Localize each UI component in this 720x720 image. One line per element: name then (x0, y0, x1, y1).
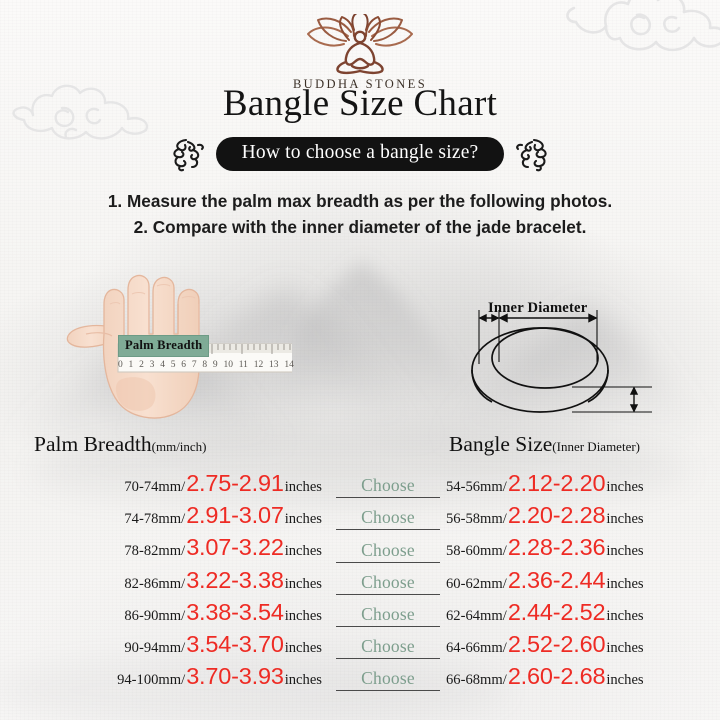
palm-row-6-mm: 94-100mm/ (117, 672, 185, 689)
flourish-ornament-right-icon (514, 136, 548, 172)
palm-row-3-unit: inches (285, 576, 322, 593)
table-row: 70-74mm/2.75-2.91inches (22, 470, 322, 502)
choose-row: Choose (330, 534, 446, 566)
choose-field-1[interactable]: Choose (336, 507, 440, 530)
bangle-row-6-unit: inches (606, 672, 643, 689)
palm-row-5-inches: 3.54-3.70 (185, 631, 285, 658)
instruction-line-1: 1. Measure the palm max breadth as per t… (0, 188, 720, 214)
left-header-sub: (mm/inch) (152, 439, 207, 454)
bangle-row-1-unit: inches (606, 511, 643, 528)
bangle-size-chart-page: BUDDHA STONES Bangle Size Chart How to c… (0, 0, 720, 720)
bangle-row-1-inches: 2.20-2.28 (507, 502, 607, 529)
palm-row-4-inches: 3.38-3.54 (185, 599, 285, 626)
palm-row-2-mm: 78-82mm/ (124, 543, 185, 560)
left-column-header: Palm Breadth(mm/inch) (34, 432, 207, 457)
table-row: 82-86mm/3.22-3.38inches (22, 567, 322, 599)
choose-column: ChooseChooseChooseChooseChooseChooseChoo… (330, 470, 446, 695)
banner-question: How to choose a bangle size? (216, 137, 505, 171)
ruler-tick-0: 0 (118, 360, 123, 370)
choose-label-2: Choose (361, 540, 415, 560)
right-column-header: Bangle Size(Inner Diameter) (449, 432, 640, 457)
choose-row: Choose (330, 663, 446, 695)
palm-row-3-inches: 3.22-3.38 (185, 567, 285, 594)
ruler-tick-11: 11 (239, 360, 248, 370)
bangle-row-5-inches: 2.52-2.60 (507, 631, 607, 658)
palm-row-5-mm: 90-94mm/ (124, 640, 185, 657)
choose-field-0[interactable]: Choose (336, 475, 440, 498)
bangle-row-5-mm: 64-66mm/ (446, 640, 507, 657)
bangle-row-1-mm: 56-58mm/ (446, 511, 507, 528)
right-header-sub: (Inner Diameter) (552, 439, 640, 454)
table-row: 54-56mm/2.12-2.20inches (446, 470, 708, 502)
page-title: Bangle Size Chart (0, 82, 720, 125)
ruler-tick-1: 1 (129, 360, 134, 370)
choose-label-5: Choose (361, 636, 415, 656)
palm-row-0-mm: 70-74mm/ (124, 479, 185, 496)
choose-field-3[interactable]: Choose (336, 572, 440, 595)
ruler-tick-7: 7 (192, 360, 197, 370)
palm-row-1-inches: 2.91-3.07 (185, 502, 285, 529)
choose-field-4[interactable]: Choose (336, 604, 440, 627)
ruler-tick-6: 6 (181, 360, 186, 370)
bangle-ring-diagram-icon (452, 292, 667, 420)
choose-row: Choose (330, 470, 446, 502)
ruler-tick-5: 5 (171, 360, 176, 370)
bangle-row-4-inches: 2.44-2.52 (507, 599, 607, 626)
choose-field-2[interactable]: Choose (336, 540, 440, 563)
palm-row-4-mm: 86-90mm/ (124, 608, 185, 625)
ruler-tick-4: 4 (160, 360, 165, 370)
choose-field-5[interactable]: Choose (336, 636, 440, 659)
bangle-row-2-inches: 2.28-2.36 (507, 534, 607, 561)
palm-row-0-unit: inches (285, 479, 322, 496)
palm-row-1-mm: 74-78mm/ (124, 511, 185, 528)
choose-field-6[interactable]: Choose (336, 668, 440, 691)
choose-label-3: Choose (361, 572, 415, 592)
right-header-main: Bangle Size (449, 432, 552, 456)
bangle-row-0-inches: 2.12-2.20 (507, 470, 607, 497)
instructions-block: 1. Measure the palm max breadth as per t… (0, 188, 720, 240)
choose-row: Choose (330, 631, 446, 663)
palm-breadth-label: Palm Breadth (118, 335, 209, 357)
banner-row: How to choose a bangle size? (0, 136, 720, 172)
palm-row-6-inches: 3.70-3.93 (185, 663, 285, 690)
ruler-tick-2: 2 (139, 360, 144, 370)
choose-label-0: Choose (361, 475, 415, 495)
palm-row-1-unit: inches (285, 511, 322, 528)
table-row: 94-100mm/3.70-3.93inches (22, 663, 322, 695)
left-header-main: Palm Breadth (34, 432, 152, 456)
ruler-tick-8: 8 (202, 360, 207, 370)
table-row: 58-60mm/2.28-2.36inches (446, 534, 708, 566)
table-row: 62-64mm/2.44-2.52inches (446, 599, 708, 631)
palm-row-2-inches: 3.07-3.22 (185, 534, 285, 561)
bangle-row-2-mm: 58-60mm/ (446, 543, 507, 560)
ruler-tick-labels: 01234567891011121314 (118, 360, 294, 370)
choose-row: Choose (330, 502, 446, 534)
ruler-tick-14: 14 (284, 360, 294, 370)
bangle-row-3-unit: inches (606, 576, 643, 593)
choose-label-4: Choose (361, 604, 415, 624)
ruler-tick-3: 3 (150, 360, 155, 370)
ruler-tick-10: 10 (223, 360, 233, 370)
table-row: 66-68mm/2.60-2.68inches (446, 663, 708, 695)
table-row: 56-58mm/2.20-2.28inches (446, 502, 708, 534)
choose-label-1: Choose (361, 507, 415, 527)
bangle-row-0-mm: 54-56mm/ (446, 479, 507, 496)
palm-row-4-unit: inches (285, 608, 322, 625)
choose-row: Choose (330, 567, 446, 599)
bangle-row-4-unit: inches (606, 608, 643, 625)
lotus-meditation-icon (302, 14, 418, 76)
table-row: 74-78mm/2.91-3.07inches (22, 502, 322, 534)
bangle-row-2-unit: inches (606, 543, 643, 560)
choose-label-6: Choose (361, 668, 415, 688)
bangle-row-6-inches: 2.60-2.68 (507, 663, 607, 690)
bangle-row-5-unit: inches (606, 640, 643, 657)
palm-row-3-mm: 82-86mm/ (124, 576, 185, 593)
palm-row-6-unit: inches (285, 672, 322, 689)
bangle-size-table: 54-56mm/2.12-2.20inches56-58mm/2.20-2.28… (446, 470, 708, 695)
brand-logo-block: BUDDHA STONES (0, 14, 720, 92)
table-row: 60-62mm/2.36-2.44inches (446, 567, 708, 599)
bangle-row-6-mm: 66-68mm/ (446, 672, 507, 689)
bangle-row-3-mm: 60-62mm/ (446, 576, 507, 593)
flourish-ornament-left-icon (172, 136, 206, 172)
table-row: 86-90mm/3.38-3.54inches (22, 599, 322, 631)
bangle-row-0-unit: inches (606, 479, 643, 496)
table-row: 78-82mm/3.07-3.22inches (22, 534, 322, 566)
palm-row-5-unit: inches (285, 640, 322, 657)
bangle-row-3-inches: 2.36-2.44 (507, 567, 607, 594)
ruler-tick-13: 13 (269, 360, 279, 370)
palm-row-0-inches: 2.75-2.91 (185, 470, 285, 497)
ruler-tick-12: 12 (254, 360, 264, 370)
choose-row: Choose (330, 599, 446, 631)
table-row: 64-66mm/2.52-2.60inches (446, 631, 708, 663)
table-row: 90-94mm/3.54-3.70inches (22, 631, 322, 663)
palm-breadth-table: 70-74mm/2.75-2.91inches74-78mm/2.91-3.07… (22, 470, 322, 695)
ruler-tick-9: 9 (213, 360, 218, 370)
instruction-line-2: 2. Compare with the inner diameter of th… (0, 214, 720, 240)
palm-row-2-unit: inches (285, 543, 322, 560)
bangle-row-4-mm: 62-64mm/ (446, 608, 507, 625)
